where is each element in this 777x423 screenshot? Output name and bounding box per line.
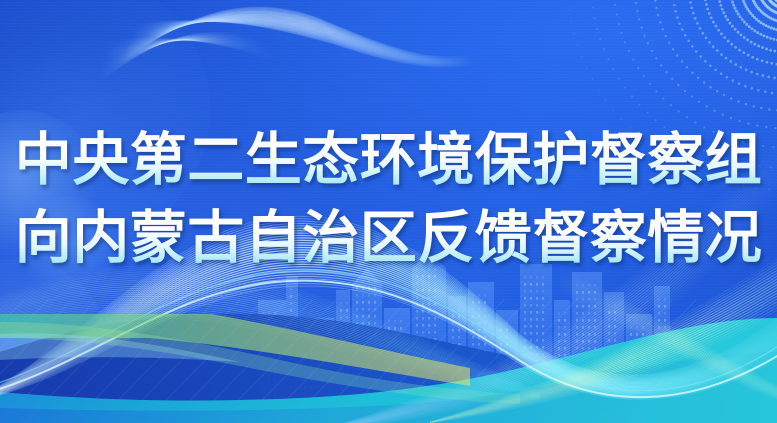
news-banner: 中央第二生态环境保护督察组 向内蒙古自治区反馈督察情况 bbox=[0, 0, 777, 423]
title-line-2: 向内蒙古自治区反馈督察情况 bbox=[0, 202, 777, 276]
title-line-1: 中央第二生态环境保护督察组 bbox=[0, 124, 777, 198]
banner-title: 中央第二生态环境保护督察组 向内蒙古自治区反馈督察情况 bbox=[0, 124, 777, 276]
